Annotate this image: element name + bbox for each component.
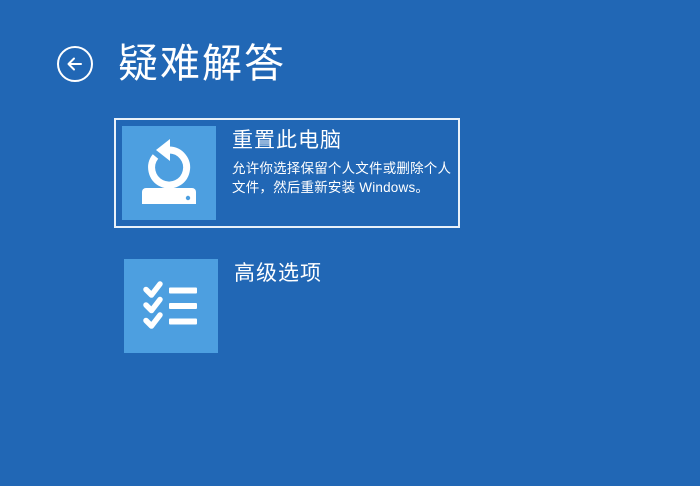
option-title: 高级选项	[234, 261, 322, 286]
page-header: 疑难解答	[56, 34, 286, 94]
option-reset-this-pc[interactable]: 重置此电脑 允许你选择保留个人文件或删除个人文件，然后重新安装 Windows。	[114, 118, 460, 228]
reset-pc-icon	[122, 126, 216, 220]
recovery-screen: 疑难解答 重置此电脑 允许你选择保留个人文件或删除个人文件，然后重新安装 Win…	[0, 0, 700, 486]
option-advanced-options[interactable]: 高级选项	[114, 249, 460, 363]
page-title: 疑难解答	[118, 42, 286, 86]
option-title: 重置此电脑	[232, 128, 452, 153]
option-text-block: 重置此电脑 允许你选择保留个人文件或删除个人文件，然后重新安装 Windows。	[232, 126, 452, 197]
checklist-icon	[124, 259, 218, 353]
option-text-block: 高级选项	[234, 259, 322, 292]
option-description: 允许你选择保留个人文件或删除个人文件，然后重新安装 Windows。	[232, 159, 452, 197]
option-list: 重置此电脑 允许你选择保留个人文件或删除个人文件，然后重新安装 Windows。	[114, 118, 460, 363]
back-arrow-circle-icon[interactable]	[56, 45, 94, 83]
